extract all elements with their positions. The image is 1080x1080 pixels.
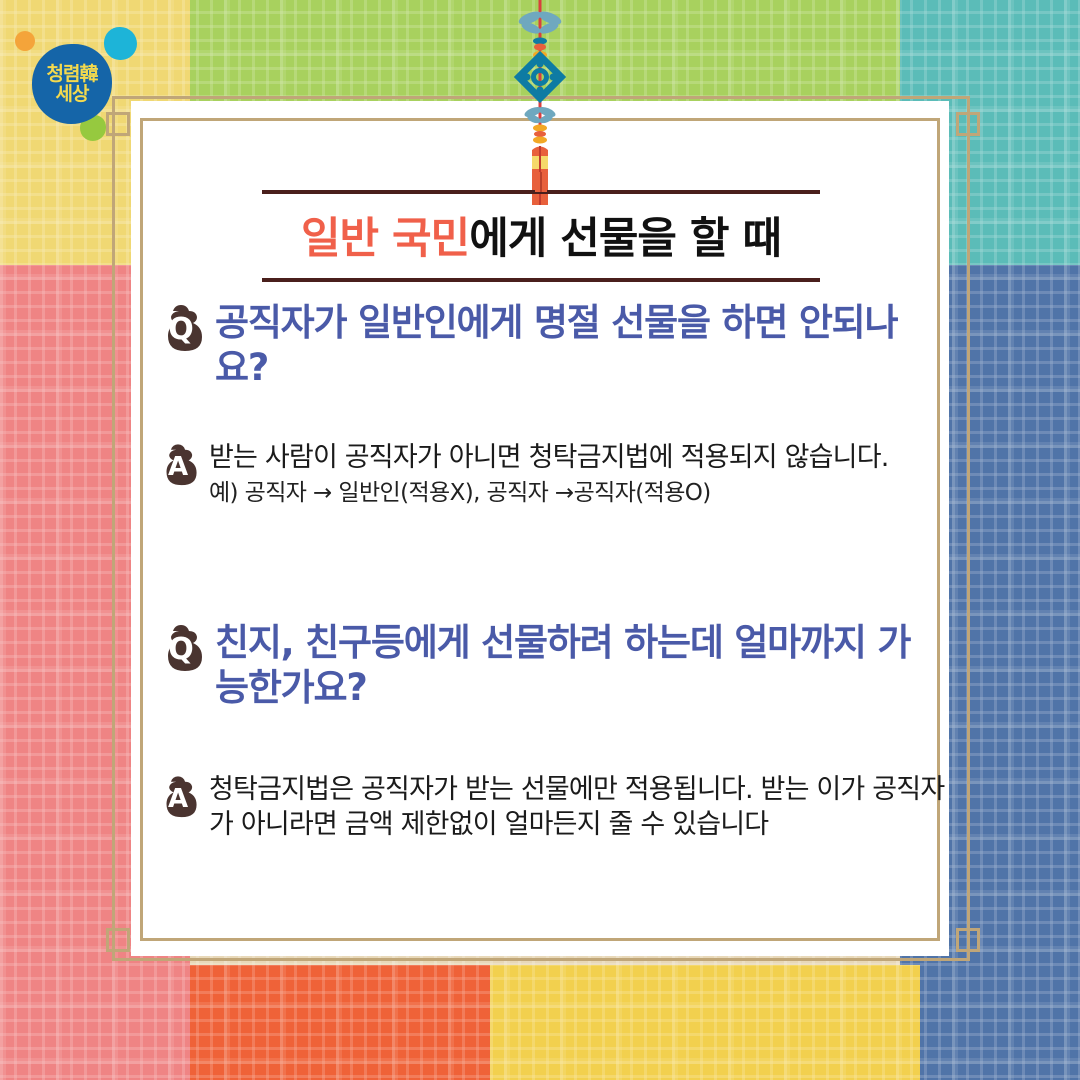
- qa-item-1-answer: A 받는 사람이 공직자가 아니면 청탁금지법에 적용되지 않습니다. 예) 공…: [155, 440, 889, 509]
- answer-text-2: 청탁금지법은 공직자가 받는 선물에만 적용됩니다. 받는 이가 공직자가 아니…: [209, 772, 949, 842]
- logo-text-line1: 청렴韓: [47, 65, 98, 84]
- answer-badge-letter: A: [155, 440, 201, 486]
- answer-example-1: 예) 공직자 → 일반인(적용X), 공직자 →공직자(적용O): [209, 479, 889, 509]
- question-badge-letter: Q: [155, 620, 207, 672]
- title-tick-mark: [535, 172, 547, 192]
- answer-badge-icon: A: [155, 772, 201, 818]
- page-title: 일반 국민에게 선물을 할 때: [262, 190, 820, 282]
- title-text: 일반 국민에게 선물을 할 때: [262, 194, 820, 278]
- answer-text-1: 받는 사람이 공직자가 아니면 청탁금지법에 적용되지 않습니다. 예) 공직자…: [209, 440, 889, 509]
- answer-badge-letter: A: [155, 772, 201, 818]
- logo-text: 청렴韓 세상: [32, 44, 112, 124]
- answer-badge-icon: A: [155, 440, 201, 486]
- title-rule-bottom: [262, 278, 820, 282]
- logo-text-line2: 세상: [56, 85, 89, 104]
- qa-item-2-answer: A 청탁금지법은 공직자가 받는 선물에만 적용됩니다. 받는 이가 공직자가 …: [155, 772, 949, 842]
- qa-item-1-question: Q 공직자가 일반인에게 명절 선물을 하면 안되나요?: [155, 300, 935, 390]
- qa-item-2-question: Q 친지, 친구등에게 선물하려 하는데 얼마까지 가능한가요?: [155, 620, 935, 710]
- question-text-1: 공직자가 일반인에게 명절 선물을 하면 안되나요?: [215, 300, 935, 390]
- question-badge-letter: Q: [155, 300, 207, 352]
- title-highlight: 일반 국민: [301, 214, 469, 264]
- question-badge-icon: Q: [155, 300, 207, 352]
- question-text-2: 친지, 친구등에게 선물하려 하는데 얼마까지 가능한가요?: [215, 620, 935, 710]
- answer-main-1: 받는 사람이 공직자가 아니면 청탁금지법에 적용되지 않습니다.: [209, 442, 889, 473]
- brand-logo: 청렴韓 세상: [8, 22, 138, 147]
- question-badge-icon: Q: [155, 620, 207, 672]
- poster-canvas: 청렴韓 세상 일반 국민에게 선물을 할 때 Q 공직자가 일반인에게 명절 선…: [0, 0, 1080, 1080]
- title-rest: 에게 선물을 할 때: [469, 214, 781, 264]
